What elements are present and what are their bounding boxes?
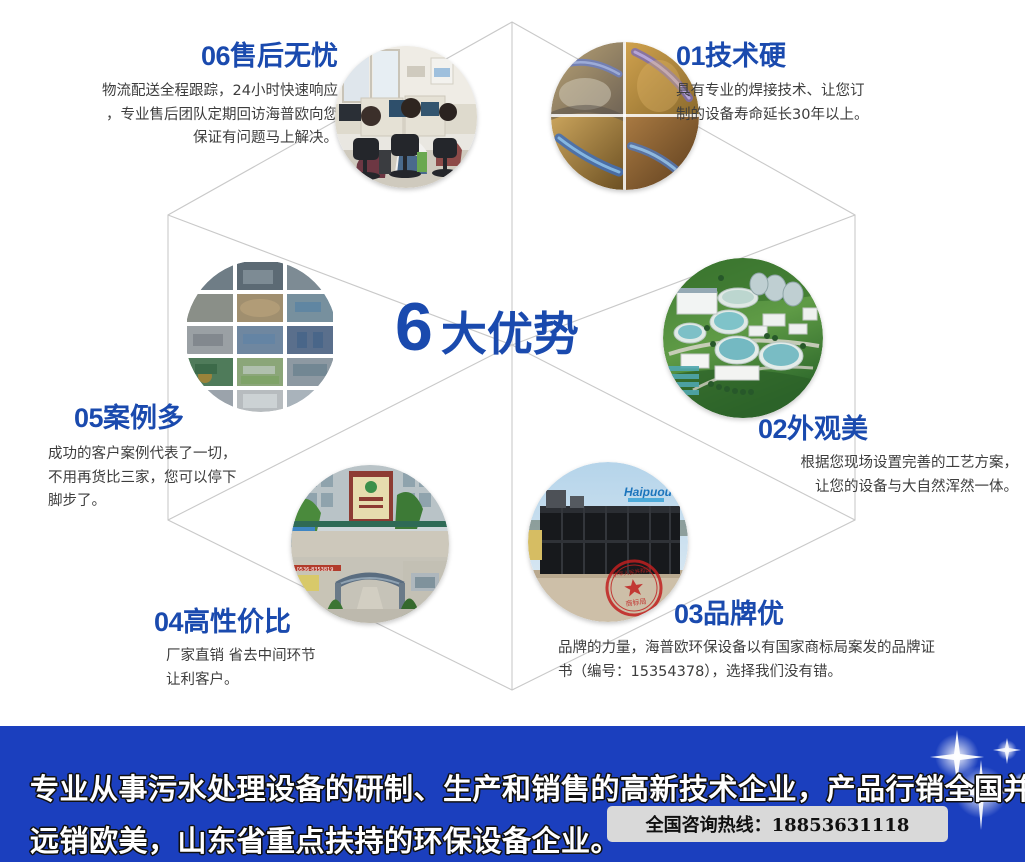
feature-03-desc-line-1: 品牌的力量，海普欧环保设备以有国家商标局案发的品牌证 [558,637,1008,660]
feature-01-desc-line-2: 制的设备寿命延长30年以上。 [676,104,996,127]
feature-03-title: 03品牌优 [674,600,1008,629]
feature-06-number: 06 [201,41,230,71]
feature-06-desc-line-1: 物流配送全程跟踪，24小时快速响应 [8,80,338,103]
feature-03-number: 03 [674,599,703,629]
feature-06-sales-service: 06售后无忧 物流配送全程跟踪，24小时快速响应 ，专业售后团队定期回访海普欧向… [8,42,338,151]
feature-01-desc: 具有专业的焊接技术、让您订 制的设备寿命延长30年以上。 [676,80,996,127]
feature-04-number: 04 [154,607,183,637]
hotline-box[interactable]: 全国咨询热线：18853631118 [607,806,948,842]
feature-06-title: 06售后无忧 [8,42,338,71]
feature-03-brand: 03品牌优 品牌的力量，海普欧环保设备以有国家商标局案发的品牌证 书（编号：15… [558,600,1008,684]
feature-06-desc-line-3: 保证有问题马上解决。 [8,127,338,150]
feature-01-desc-line-1: 具有专业的焊接技术、让您订 [676,80,996,103]
office-team-photo [335,46,477,188]
feature-05-desc-line-3: 脚步了。 [48,490,378,513]
treatment-plant-aerial-photo [663,258,823,418]
case-collage-photo [185,260,337,412]
feature-04-value: 04高性价比 厂家直销 省去中间环节 让利客户。 [154,608,484,692]
feature-02-title: 02外观美 [758,415,1018,444]
infographic-page: 6 大优势 06售后无忧 物流配送全程跟踪，24小时快速响应 ，专业售后团队定期… [0,0,1025,862]
banner-line-2: 远销欧美，山东省重点扶持的环保设备企业。 [30,818,620,860]
feature-05-desc-line-2: 不用再货比三家，您可以停下 [48,467,378,490]
center-label-text: 大优势 [441,311,579,357]
feature-04-desc-line-1: 厂家直销 省去中间环节 [166,645,484,668]
feature-02-desc-line-1: 根据您现场设置完善的工艺方案， [620,452,1018,475]
feature-02-appearance: 02外观美 根据您现场设置完善的工艺方案， 让您的设备与大自然浑然一体。 [620,415,1018,499]
feature-01-number: 01 [676,41,705,71]
feature-05-desc-line-1: 成功的客户案例代表了一切， [48,443,378,466]
feature-04-desc-line-2: 让利客户。 [166,669,484,692]
feature-05-cases: 05案例多 成功的客户案例代表了一切， 不用再货比三家，您可以停下 脚步了。 [48,404,378,514]
svg-text:Haipuou: Haipuou [624,485,673,499]
feature-01-technology: 01技术硬 具有专业的焊接技术、让您订 制的设备寿命延长30年以上。 [676,42,996,127]
center-headline: 6 大优势 [395,293,579,361]
center-number: 6 [395,293,432,361]
equipment-trademark-photo: Haipuou 商标局 中华人民共和国 [528,462,688,622]
feature-02-title-text: 外观美 [787,414,868,445]
feature-02-desc-line-2: 让您的设备与大自然浑然一体。 [620,476,1018,499]
feature-04-title-text: 高性价比 [183,607,291,638]
feature-05-title-text: 案例多 [103,403,184,434]
feature-02-desc: 根据您现场设置完善的工艺方案， 让您的设备与大自然浑然一体。 [620,452,1018,499]
feature-04-title: 04高性价比 [154,608,484,637]
feature-04-desc: 厂家直销 省去中间环节 让利客户。 [166,645,484,692]
feature-03-desc-line-2: 书（编号：15354378），选择我们没有错。 [558,661,1008,684]
feature-03-title-text: 品牌优 [703,599,784,630]
feature-01-title: 01技术硬 [676,42,996,71]
feature-05-title: 05案例多 [74,404,378,433]
banner-line-1: 专业从事污水处理设备的研制、生产和销售的高新技术企业，产品行销全国并 [30,766,1025,808]
feature-06-title-text: 售后无忧 [230,41,338,72]
feature-06-desc-line-2: ，专业售后团队定期回访海普欧向您 [8,104,338,127]
feature-05-number: 05 [74,403,103,433]
feature-06-desc: 物流配送全程跟踪，24小时快速响应 ，专业售后团队定期回访海普欧向您 保证有问题… [8,80,338,150]
hotline-text: 全国咨询热线：18853631118 [646,811,910,837]
feature-03-desc: 品牌的力量，海普欧环保设备以有国家商标局案发的品牌证 书（编号：15354378… [558,637,1008,684]
feature-02-number: 02 [758,414,787,444]
svg-text:0536-8353819: 0536-8353819 [297,567,334,573]
feature-01-title-text: 技术硬 [705,41,786,72]
feature-05-desc: 成功的客户案例代表了一切， 不用再货比三家，您可以停下 脚步了。 [48,443,378,513]
